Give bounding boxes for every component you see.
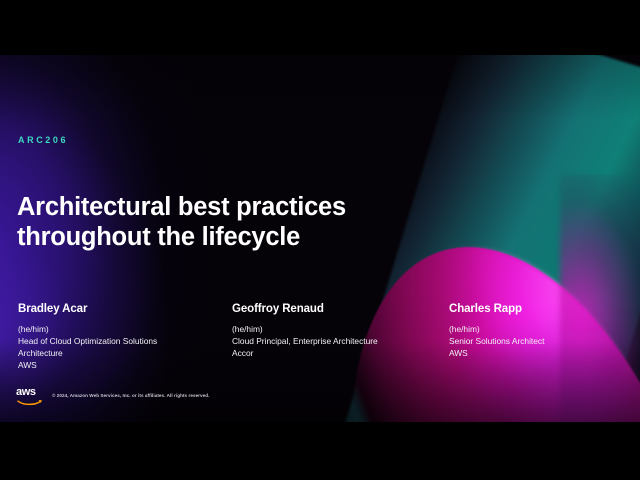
speaker-title-line-2: Architecture xyxy=(18,348,223,360)
presentation-slide: ARC206 Architectural best practices thro… xyxy=(0,0,640,480)
page-title: Architectural best practices throughout … xyxy=(17,192,447,252)
speaker-pronouns: (he/him) xyxy=(232,324,437,336)
speaker-company: AWS xyxy=(449,348,634,360)
speaker-title-line-1: Head of Cloud Optimization Solutions xyxy=(18,336,223,348)
letterbox-bottom xyxy=(0,422,640,480)
aws-wordmark: aws xyxy=(16,387,36,398)
speaker-title-line-1: Senior Solutions Architect xyxy=(449,336,634,348)
session-code: ARC206 xyxy=(18,135,68,145)
slide-footer: aws © 2024, Amazon Web Services, Inc. or… xyxy=(0,388,640,412)
slide-content: ARC206 Architectural best practices thro… xyxy=(0,0,640,480)
speaker-company: AWS xyxy=(18,360,223,372)
title-line-2: throughout the lifecycle xyxy=(17,222,447,252)
title-line-1: Architectural best practices xyxy=(17,192,447,222)
speaker-pronouns: (he/him) xyxy=(18,324,223,336)
speaker-title-line-1: Cloud Principal, Enterprise Architecture xyxy=(232,336,437,348)
speaker-details: (he/him) Head of Cloud Optimization Solu… xyxy=(18,324,223,372)
aws-logo-icon: aws xyxy=(16,388,44,406)
letterbox-top xyxy=(0,0,640,55)
speaker-name: Charles Rapp xyxy=(449,303,634,317)
speaker-card: Geoffroy Renaud (he/him) Cloud Principal… xyxy=(232,303,437,360)
speaker-pronouns: (he/him) xyxy=(449,324,634,336)
speaker-name: Bradley Acar xyxy=(18,303,223,317)
speaker-name: Geoffroy Renaud xyxy=(232,303,437,317)
speaker-list: Bradley Acar (he/him) Head of Cloud Opti… xyxy=(0,303,640,383)
speaker-card: Charles Rapp (he/him) Senior Solutions A… xyxy=(449,303,634,360)
aws-smile-swoosh xyxy=(17,398,43,406)
speaker-company: Accor xyxy=(232,348,437,360)
speaker-details: (he/him) Cloud Principal, Enterprise Arc… xyxy=(232,324,437,360)
copyright-text: © 2024, Amazon Web Services, Inc. or its… xyxy=(52,393,209,398)
speaker-card: Bradley Acar (he/him) Head of Cloud Opti… xyxy=(18,303,223,371)
speaker-details: (he/him) Senior Solutions Architect AWS xyxy=(449,324,634,360)
